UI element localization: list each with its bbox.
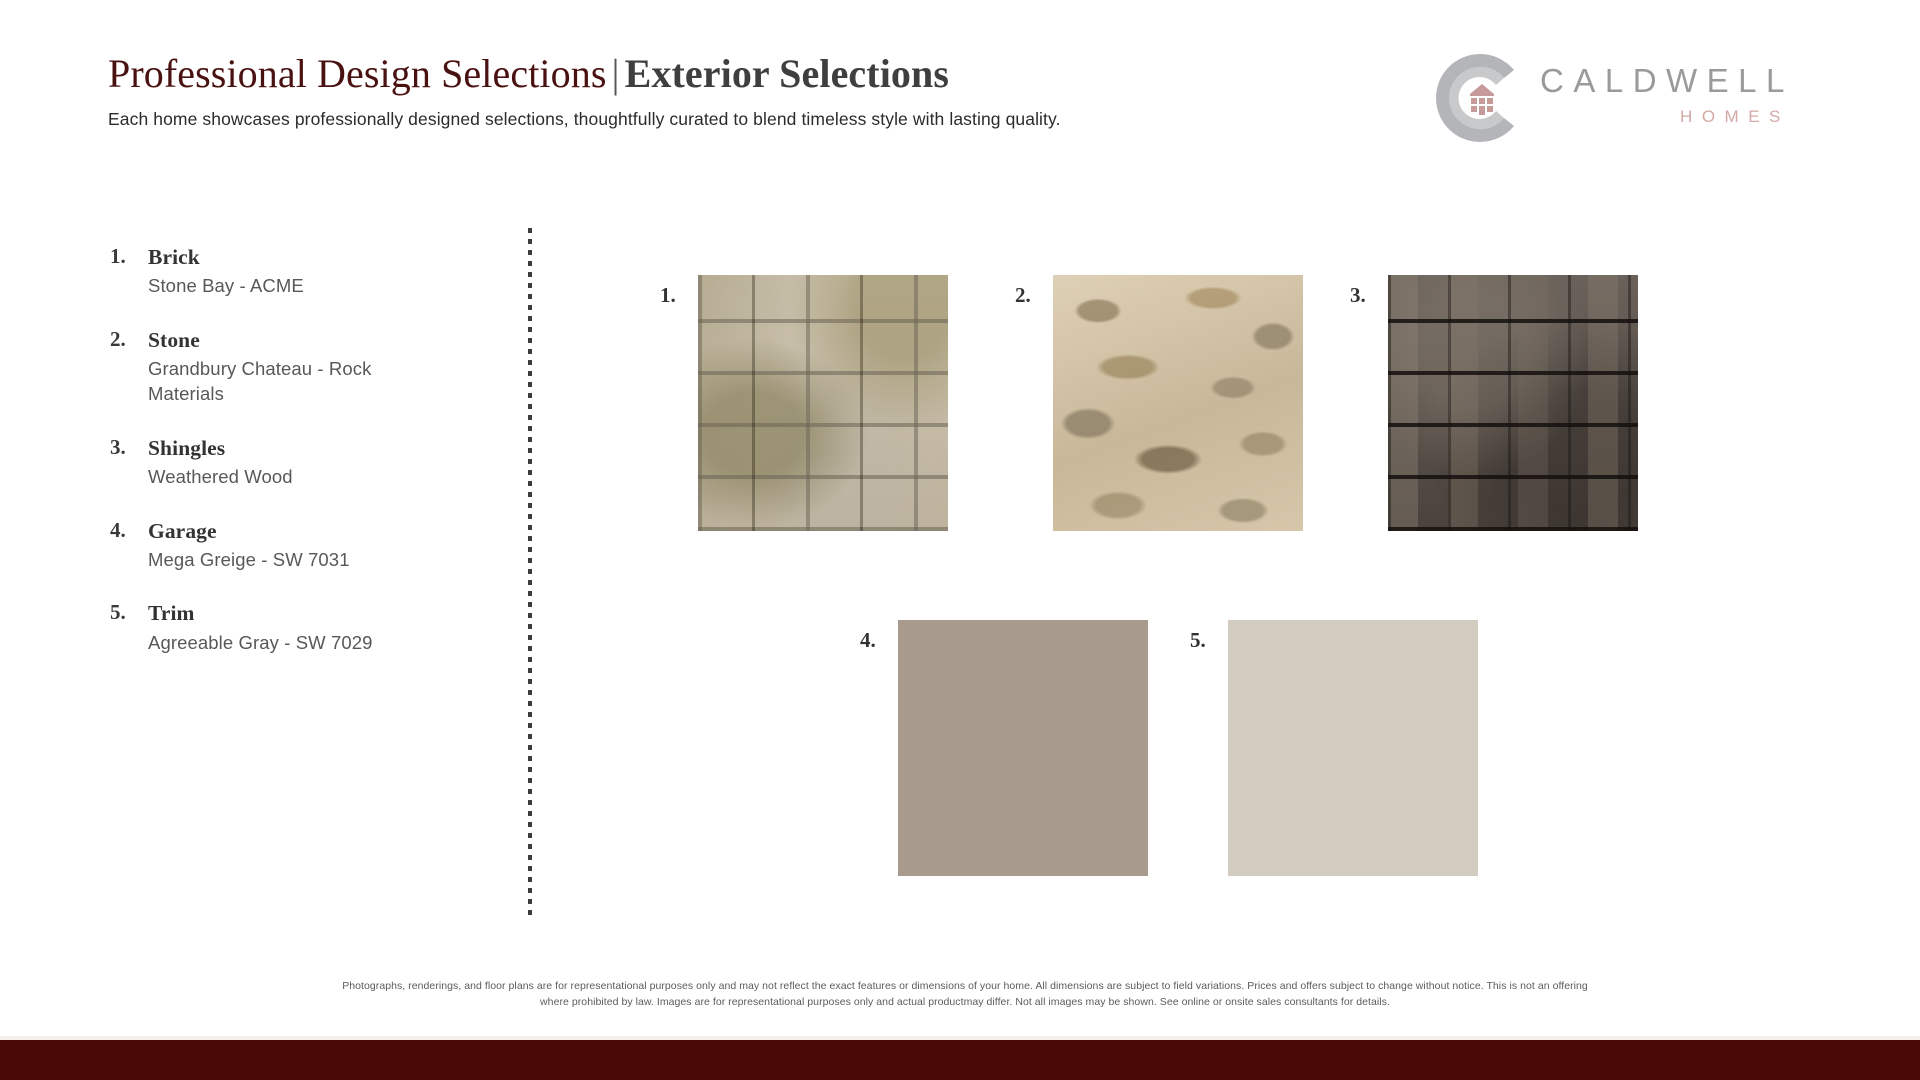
swatch-cell-3[interactable]: 3. xyxy=(1350,275,1638,531)
list-item-desc: Grandbury Chateau - Rock Materials xyxy=(148,357,440,406)
list-item-body: Trim Agreeable Gray - SW 7029 xyxy=(148,599,440,655)
page-title-secondary: Exterior Selections xyxy=(625,51,949,96)
brick-texture-image[interactable] xyxy=(698,275,948,531)
brand-subname: HOMES xyxy=(1540,108,1794,125)
list-item-desc: Weathered Wood xyxy=(148,465,440,490)
list-item-body: Garage Mega Greige - SW 7031 xyxy=(148,517,440,573)
swatch-number: 5. xyxy=(1190,630,1206,651)
list-item: 1. Brick Stone Bay - ACME xyxy=(110,243,440,299)
swatch-number: 1. xyxy=(660,285,676,306)
list-item: 5. Trim Agreeable Gray - SW 7029 xyxy=(110,599,440,655)
list-item-title: Stone xyxy=(148,326,440,354)
swatch-number: 2. xyxy=(1015,285,1031,306)
list-item-desc: Stone Bay - ACME xyxy=(148,274,440,299)
list-item-desc: Mega Greige - SW 7031 xyxy=(148,548,440,573)
list-item: 3. Shingles Weathered Wood xyxy=(110,434,440,490)
design-selections-page: Professional Design Selections|Exterior … xyxy=(0,0,1920,1080)
brand-name: CALDWELL xyxy=(1540,64,1794,97)
disclaimer-text: Photographs, renderings, and floor plans… xyxy=(330,978,1600,1011)
swatch-cell-4[interactable]: 4. xyxy=(860,620,1148,876)
list-item-number: 3. xyxy=(110,434,148,462)
list-item-number: 5. xyxy=(110,599,148,627)
list-item-title: Trim xyxy=(148,599,440,627)
swatch-cell-5[interactable]: 5. xyxy=(1190,620,1478,876)
list-item-number: 4. xyxy=(110,517,148,545)
shingle-texture-image[interactable] xyxy=(1388,275,1638,531)
stone-texture-image[interactable] xyxy=(1053,275,1303,531)
swatch-number: 4. xyxy=(860,630,876,651)
list-item-desc: Agreeable Gray - SW 7029 xyxy=(148,631,440,656)
list-item-number: 2. xyxy=(110,326,148,354)
selection-list: 1. Brick Stone Bay - ACME 2. Stone Grand… xyxy=(110,243,440,655)
title-divider-glyph: | xyxy=(607,51,625,96)
list-item-title: Shingles xyxy=(148,434,440,462)
swatch-cell-2[interactable]: 2. xyxy=(1015,275,1303,531)
swatch-number: 3. xyxy=(1350,285,1366,306)
list-item: 4. Garage Mega Greige - SW 7031 xyxy=(110,517,440,573)
swatch-cell-1[interactable]: 1. xyxy=(660,275,948,531)
list-item: 2. Stone Grandbury Chateau - Rock Materi… xyxy=(110,326,440,407)
brand-logo: CALDWELL HOMES xyxy=(1432,48,1812,148)
caldwell-c-house-logo-icon xyxy=(1432,50,1528,146)
list-item-title: Brick xyxy=(148,243,440,271)
garage-color-swatch[interactable] xyxy=(898,620,1148,876)
footer-bar xyxy=(0,1040,1920,1080)
list-item-title: Garage xyxy=(148,517,440,545)
list-item-body: Brick Stone Bay - ACME xyxy=(148,243,440,299)
list-item-body: Stone Grandbury Chateau - Rock Materials xyxy=(148,326,440,407)
brand-wordmark: CALDWELL HOMES xyxy=(1540,64,1794,125)
page-title-primary: Professional Design Selections xyxy=(108,51,607,96)
list-item-number: 1. xyxy=(110,243,148,271)
vertical-dotted-divider xyxy=(528,228,532,918)
list-item-body: Shingles Weathered Wood xyxy=(148,434,440,490)
trim-color-swatch[interactable] xyxy=(1228,620,1478,876)
